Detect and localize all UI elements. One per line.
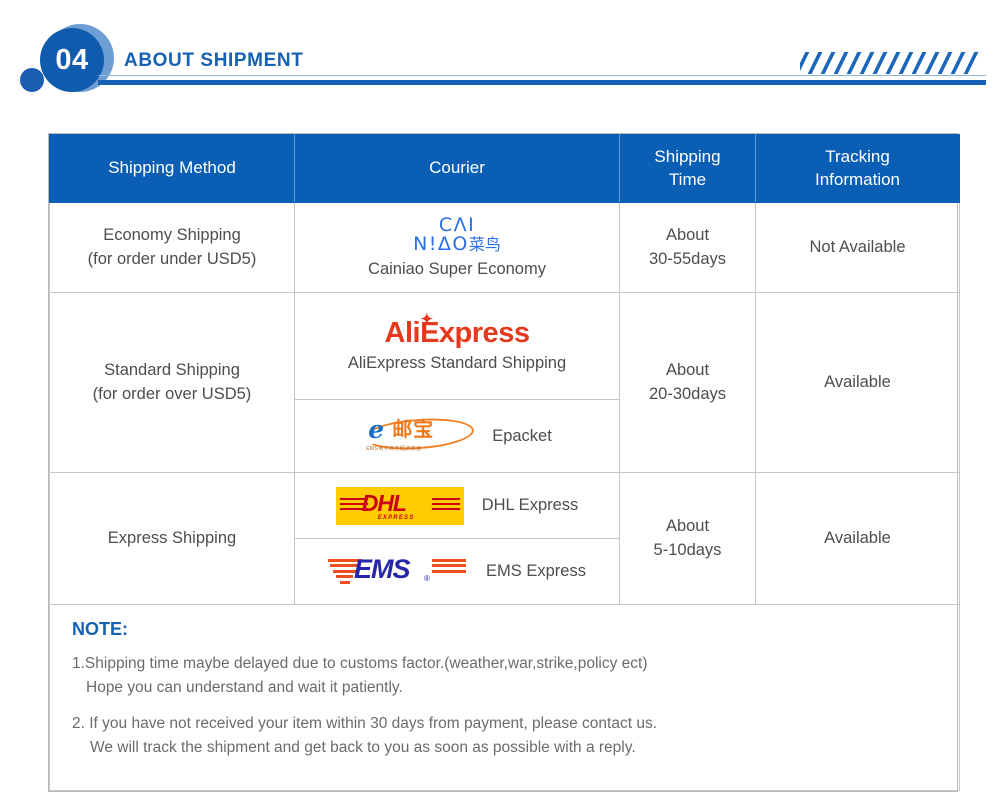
courier-entry-epacket: e 邮宝 EMS电子商务经济快递 Epacket — [295, 399, 619, 472]
dhl-right-bars — [432, 498, 460, 510]
note-section: NOTE: 1.Shipping time maybe delayed due … — [50, 605, 960, 791]
table-header-row: Shipping Method Courier Shipping Time Tr… — [50, 135, 960, 203]
courier-caption-aliexpress: AliExpress Standard Shipping — [348, 354, 566, 373]
courier-caption-epacket: Epacket — [492, 427, 552, 446]
header-rule — [98, 80, 986, 85]
time-line1: About — [620, 359, 755, 383]
epacket-logo-e: e — [368, 417, 384, 442]
ems-logo-text: EMS — [354, 556, 410, 583]
column-header-shipping-time-line1: Shipping — [620, 146, 755, 168]
section-badge: 04 — [20, 16, 140, 102]
cell-tracking-information: Available — [756, 293, 960, 473]
cainiao-logo: CΛI N!ΔO菜鸟 — [413, 216, 501, 255]
header-rule-thin — [98, 75, 986, 76]
dhl-logo: DHL EXPRESS — [336, 487, 464, 525]
cell-courier: DHL EXPRESS DHL Express EMS ® — [295, 473, 620, 605]
cell-courier: CΛI N!ΔO菜鸟 Cainiao Super Economy — [295, 203, 620, 293]
method-line1: Express Shipping — [50, 527, 294, 551]
table-row: Standard Shipping (for order over USD5) … — [50, 293, 960, 473]
cell-tracking-information: Not Available — [756, 203, 960, 293]
cainiao-logo-cn: 菜鸟 — [469, 235, 501, 254]
dhl-logo-text: DHL — [362, 492, 406, 515]
column-header-shipping-time-line2: Time — [620, 169, 755, 191]
cell-shipping-time: About 30-55days — [620, 203, 756, 293]
note-item-line2: Hope you can understand and wait it pati… — [72, 676, 959, 700]
column-header-courier: Courier — [295, 135, 620, 203]
note-item-line1: 2. If you have not received your item wi… — [72, 712, 959, 736]
note-item-line2: We will track the shipment and get back … — [72, 736, 959, 760]
dhl-logo-subtext: EXPRESS — [378, 515, 415, 521]
ems-logo: EMS ® — [328, 554, 468, 590]
courier-entry-cainiao: CΛI N!ΔO菜鸟 Cainiao Super Economy — [295, 203, 619, 292]
column-header-tracking-line1: Tracking — [756, 146, 959, 168]
note-row: NOTE: 1.Shipping time maybe delayed due … — [50, 605, 960, 791]
badge-number: 04 — [55, 46, 88, 75]
courier-caption-ems: EMS Express — [486, 562, 586, 581]
column-header-shipping-time: Shipping Time — [620, 135, 756, 203]
sparkle-icon: ✦ — [421, 312, 433, 327]
courier-caption-dhl: DHL Express — [482, 496, 579, 515]
courier-entry-dhl: DHL EXPRESS DHL Express — [295, 473, 619, 538]
time-line1: About — [620, 515, 755, 539]
method-line2: (for order under USD5) — [50, 248, 294, 272]
ems-registered-mark: ® — [424, 574, 430, 583]
note-title: NOTE: — [72, 619, 959, 640]
ems-right-bars — [432, 559, 466, 576]
cainiao-logo-line2: N!ΔO — [413, 233, 469, 255]
aliexpress-logo-text: AliExpress — [385, 317, 530, 349]
column-header-shipping-method: Shipping Method — [50, 135, 295, 203]
page-header: 04 ABOUT SHIPMENT — [0, 0, 1000, 118]
method-line2: (for order over USD5) — [50, 383, 294, 407]
cell-tracking-information: Available — [756, 473, 960, 605]
time-line1: About — [620, 224, 755, 248]
cell-courier: ✦ AliExpress AliExpress Standard Shippin… — [295, 293, 620, 473]
badge-circle: 04 — [40, 28, 104, 92]
note-item: 1.Shipping time maybe delayed due to cus… — [72, 652, 959, 700]
cell-shipping-time: About 20-30days — [620, 293, 756, 473]
courier-entry-aliexpress: ✦ AliExpress AliExpress Standard Shippin… — [295, 293, 619, 399]
aliexpress-logo: ✦ AliExpress — [385, 319, 530, 348]
epacket-logo-cn: 邮宝 — [392, 419, 434, 439]
courier-caption-cainiao: Cainiao Super Economy — [368, 260, 546, 279]
epacket-logo-tagline: EMS电子商务经济快递 — [366, 445, 421, 452]
method-line1: Economy Shipping — [50, 224, 294, 248]
time-line2: 20-30days — [620, 383, 755, 407]
epacket-logo: e 邮宝 EMS电子商务经济快递 — [362, 417, 474, 455]
cell-shipping-method: Standard Shipping (for order over USD5) — [50, 293, 295, 473]
table-row: Express Shipping DHL EXPRESS DHL Express — [50, 473, 960, 605]
decorative-dot — [20, 68, 44, 92]
method-line1: Standard Shipping — [50, 359, 294, 383]
note-item-line1: 1.Shipping time maybe delayed due to cus… — [72, 652, 959, 676]
note-item: 2. If you have not received your item wi… — [72, 712, 959, 760]
page-title: ABOUT SHIPMENT — [124, 50, 303, 72]
cell-shipping-method: Economy Shipping (for order under USD5) — [50, 203, 295, 293]
courier-entry-ems: EMS ® EMS Express — [295, 538, 619, 604]
shipping-table: Shipping Method Courier Shipping Time Tr… — [48, 133, 958, 792]
column-header-tracking-information: Tracking Information — [756, 135, 960, 203]
time-line2: 30-55days — [620, 248, 755, 272]
column-header-tracking-line2: Information — [756, 169, 959, 191]
table-row: Economy Shipping (for order under USD5) … — [50, 203, 960, 293]
cell-shipping-method: Express Shipping — [50, 473, 295, 605]
time-line2: 5-10days — [620, 539, 755, 563]
cell-shipping-time: About 5-10days — [620, 473, 756, 605]
diagonal-stripes-decoration — [800, 52, 986, 74]
